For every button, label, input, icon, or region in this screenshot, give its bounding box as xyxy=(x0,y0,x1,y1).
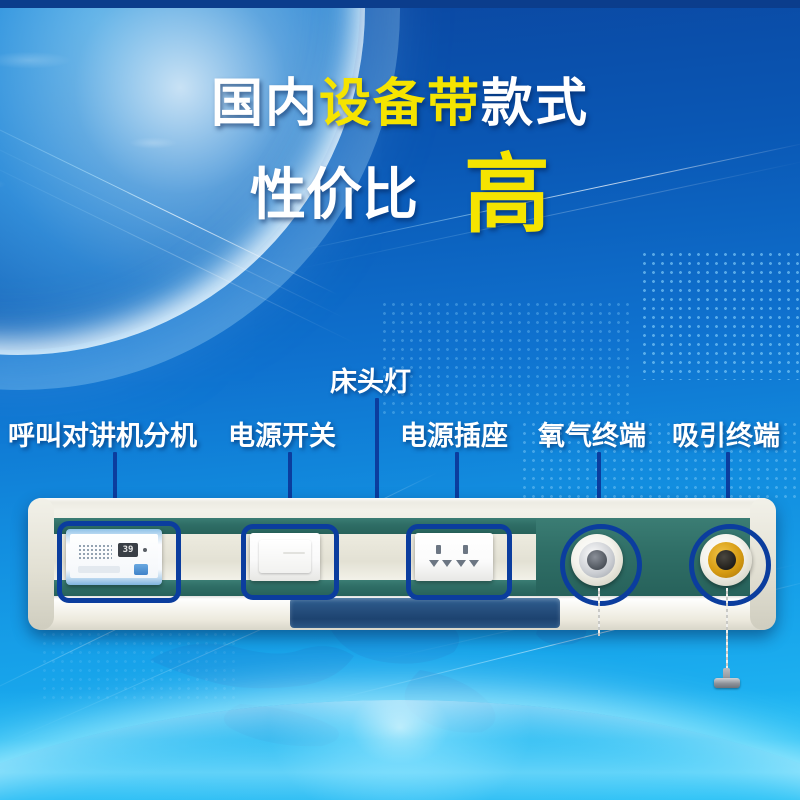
highlight-box-intercom xyxy=(57,521,181,603)
oxygen-cord xyxy=(598,588,600,636)
pull-cord[interactable] xyxy=(726,588,728,672)
headline-text-high: 高 xyxy=(464,147,550,243)
headline-text-style: 款式 xyxy=(481,75,589,133)
headline-text-domestic: 国内 xyxy=(211,75,319,133)
headline-text-value: 性价比 xyxy=(250,163,418,226)
headline-line-2: 性价比高 xyxy=(0,152,800,238)
callout-label-bed-lamp: 床头灯 xyxy=(330,360,411,399)
halftone-dots-center xyxy=(380,300,630,420)
highlight-box-power-switch xyxy=(241,524,339,600)
callout-label-intercom: 呼叫对讲机分机 xyxy=(8,414,197,453)
bed-lamp-cover xyxy=(290,598,560,628)
highlight-circle-oxygen xyxy=(560,524,642,606)
bhu-endcap-left xyxy=(28,498,54,630)
callout-label-power-socket: 电源插座 xyxy=(400,414,508,453)
highlight-box-power-socket xyxy=(406,524,512,600)
halftone-dots-right xyxy=(640,250,800,380)
poster-canvas: 国内设备带款式 性价比高 呼叫对讲机分机 电源开关 床头灯 电源插座 氧气终端 … xyxy=(0,0,800,800)
headline-line-1: 国内设备带款式 xyxy=(0,78,800,130)
top-edge-band xyxy=(0,0,800,8)
callout-label-power-switch: 电源开关 xyxy=(228,414,336,453)
bottom-light-wash xyxy=(0,690,800,800)
highlight-circle-suction xyxy=(689,524,771,606)
callout-label-suction-terminal: 吸引终端 xyxy=(672,414,780,453)
headline-block: 国内设备带款式 性价比高 xyxy=(0,78,800,238)
callout-label-oxygen-terminal: 氧气终端 xyxy=(538,414,646,453)
pull-cord-toggle[interactable] xyxy=(714,678,740,688)
headline-text-equipment-belt: 设备带 xyxy=(319,75,481,133)
